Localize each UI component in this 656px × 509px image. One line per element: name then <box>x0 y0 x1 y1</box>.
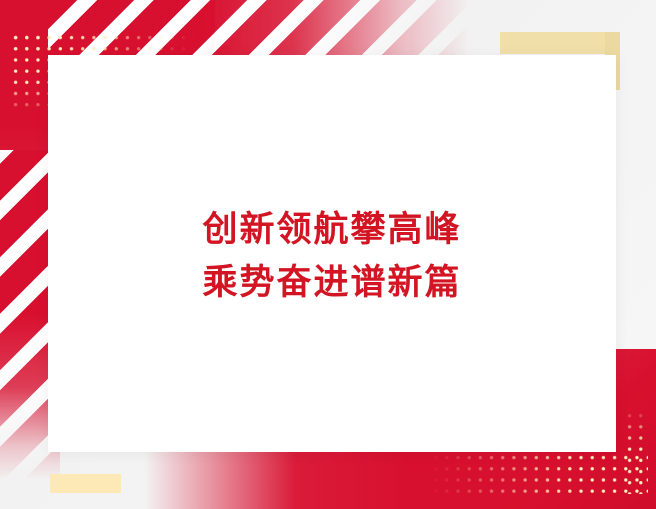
gold-accent-bar <box>50 474 121 493</box>
bottom-right-dot-grid-horizontal <box>428 450 648 494</box>
presentation-slide: 创新领航攀高峰 乘势奋进谱新篇 <box>0 0 656 509</box>
title-line-1: 创新领航攀高峰 <box>202 208 461 253</box>
title-block: 创新领航攀高峰 乘势奋进谱新篇 <box>48 55 616 452</box>
title-line-2: 乘势奋进谱新篇 <box>202 261 461 306</box>
gold-bracket-horizontal-bar <box>500 32 620 54</box>
top-left-dot-grid-vertical <box>8 30 48 112</box>
bottom-right-dot-grid-vertical <box>622 408 648 494</box>
content-card: 创新领航攀高峰 乘势奋进谱新篇 <box>48 55 616 452</box>
